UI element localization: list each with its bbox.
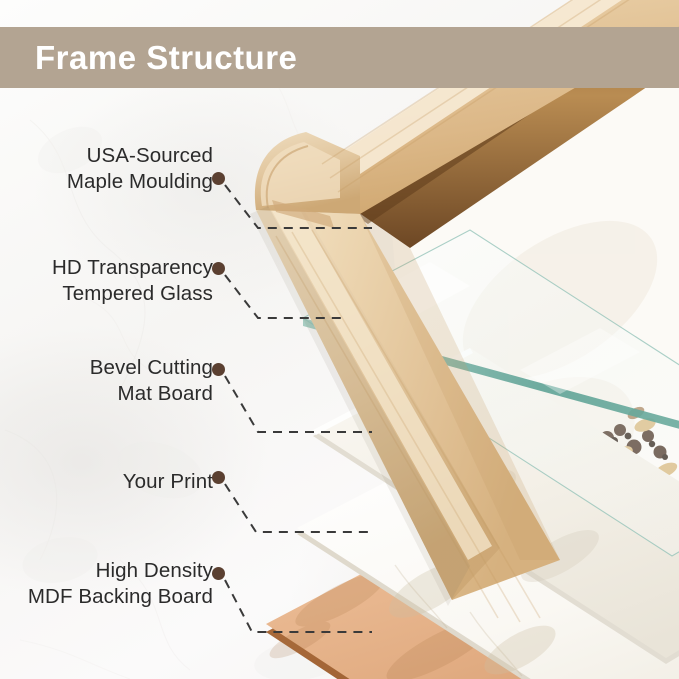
callout-label-line: MDF Backing Board — [28, 584, 213, 610]
connector-line-tempered-glass — [225, 275, 345, 318]
callout-label-line: Mat Board — [90, 381, 213, 407]
callout-dot-your-print — [212, 471, 225, 484]
callout-label-line: HD Transparency — [52, 255, 213, 281]
callout-label-line: High Density — [28, 558, 213, 584]
callout-label-line: Your Print — [123, 469, 213, 495]
callout-dot-tempered-glass — [212, 262, 225, 275]
callout-label-mat-board: Bevel CuttingMat Board — [90, 355, 213, 407]
connector-line-mat-board — [225, 376, 372, 432]
connector-line-your-print — [225, 484, 372, 532]
callout-label-maple-moulding: USA-SourcedMaple Moulding — [67, 143, 213, 195]
callout-label-line: Tempered Glass — [52, 281, 213, 307]
callout-label-line: Bevel Cutting — [90, 355, 213, 381]
infographic-canvas: Frame Structure USA-SourcedMaple Mouldin… — [0, 0, 679, 679]
callout-label-line: Maple Moulding — [67, 169, 213, 195]
callout-dot-mdf-backing — [212, 567, 225, 580]
callout-label-mdf-backing: High DensityMDF Backing Board — [28, 558, 213, 610]
callout-label-your-print: Your Print — [123, 469, 213, 495]
callout-dot-mat-board — [212, 363, 225, 376]
connector-line-mdf-backing — [225, 580, 372, 632]
callout-label-tempered-glass: HD TransparencyTempered Glass — [52, 255, 213, 307]
callout-dot-maple-moulding — [212, 172, 225, 185]
callout-label-line: USA-Sourced — [67, 143, 213, 169]
connector-line-maple-moulding — [225, 185, 372, 228]
